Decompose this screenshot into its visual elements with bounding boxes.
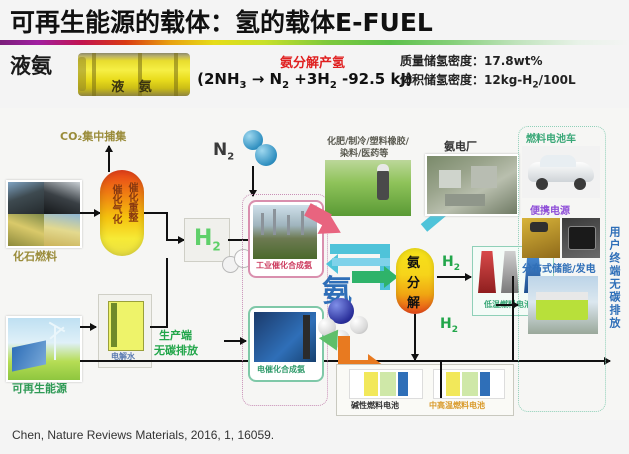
eq-prefix: (2NH [197, 70, 239, 88]
reformer-reactor: 催化气化 催化重整 [100, 170, 144, 256]
user-terminal-vertical-label: 用户终端无碳排放 [606, 226, 622, 330]
fertilizer-uses-line2: 染料/医药等 [340, 146, 388, 159]
page-title: 可再生能源的载体：氢的载体E-FUEL [10, 3, 433, 39]
fuel-cell-vehicle-photo [522, 146, 600, 198]
portable-device-photo [562, 218, 600, 258]
ammonia-to-decomp-shaft [352, 271, 386, 283]
decomp-char-1: 分 [407, 272, 420, 291]
mid-high-temp-fuel-cell-label: 中高温燃料电池 [429, 400, 485, 411]
electro-synthesis-box: 电催化合成氨 [248, 306, 324, 382]
fossil-fuel-photo [6, 180, 82, 248]
eq-arrow: → N [246, 70, 282, 88]
ammonia-decomposition-caption: 氨分解产氢 [205, 52, 420, 71]
renewable-energy-label: 可再生能源 [12, 380, 67, 396]
reformer-label-0: 催化重整 [124, 182, 139, 222]
n2-down-arrow [252, 166, 254, 196]
volume-density-value-suffix: /100L [539, 73, 576, 87]
eq-sub2: 2 [282, 80, 289, 91]
renewable-energy-photo [6, 316, 82, 382]
electrolysis-up-line [166, 258, 168, 328]
mass-density-label: 质量储氢密度： [400, 54, 484, 68]
h2-bottom-arrow [414, 314, 416, 360]
electrolysis-unit: 电解水 [98, 294, 152, 368]
reformer-down-line [166, 212, 168, 240]
mass-storage-density: 质量储氢密度：17.8wt% [400, 52, 576, 71]
reformer-label-1: 催化气化 [108, 184, 123, 224]
h2-out-bottom-label: H2 [440, 316, 458, 335]
eq-mid: +3H [289, 70, 330, 88]
h2-out-top-label: H2 [442, 254, 460, 273]
clean-production-line2: 无碳排放 [154, 342, 198, 358]
right-connector-vertical [512, 276, 514, 360]
fossil-to-reformer-arrow [80, 212, 100, 214]
tank-text: 液 氨 [78, 76, 190, 95]
co2-arrow-up [108, 146, 110, 172]
h2-label: H2 [194, 226, 221, 253]
slide-root: 可再生能源的载体：氢的载体E-FUEL 液氨 液 氨 氨分解产氢 (2NH3 →… [0, 0, 629, 454]
to-electro-synthesis-arrow [224, 340, 246, 342]
clean-production-line1: 生产端 [159, 327, 192, 343]
reformer-to-h2-arrow [166, 239, 184, 241]
industrial-synthesis-label: 工业催化合成氨 [256, 260, 312, 271]
fuel-cells-box: 碱性燃料电池 中高温燃料电池 [336, 364, 514, 416]
liquid-ammonia-label: 液氨 [10, 50, 52, 80]
decomp-char-0: 氨 [407, 252, 420, 271]
decomp-char-2: 解 [407, 292, 420, 311]
storage-density-stats: 质量储氢密度：17.8wt% 体积储氢密度：12kg-H2/100L [400, 52, 576, 95]
co2-capture-label: CO₂集中捕集 [60, 128, 126, 144]
ammonia-tank-image: 液 氨 [78, 53, 190, 96]
electro-synthesis-label: 电催化合成氨 [257, 364, 305, 375]
volume-density-value-prefix: 12kg-H [484, 73, 532, 87]
farm-photo [325, 160, 411, 216]
hydrogen-box: H2 [184, 218, 230, 262]
citation: Chen, Nature Reviews Materials, 2016, 1,… [12, 428, 274, 442]
portable-generator-photo [522, 218, 560, 258]
decomposition-equation: (2NH3 → N2 +3H2 -92.5 kJ) [180, 70, 430, 91]
n2-label: N2 [213, 140, 234, 162]
eq-sub3: 2 [330, 80, 337, 91]
power-plant-photo [425, 154, 519, 216]
electro-cell-photo [254, 312, 316, 362]
process-diagram: CO₂集中捕集 化石燃料 催化气化 催化重整 H2 [0, 108, 629, 420]
mass-density-value: 17.8wt% [484, 54, 542, 68]
ammonia-flow-arrow-3 [332, 258, 390, 266]
renewable-to-electrolysis-arrow [80, 326, 96, 328]
bottom-connector [440, 360, 442, 398]
reformer-out-line [144, 212, 168, 214]
volume-storage-density: 体积储氢密度：12kg-H2/100L [400, 71, 576, 95]
fuel-cell-vehicle-label: 燃料电池车 [526, 130, 576, 145]
h2-top-arrow [437, 276, 471, 278]
volume-density-label: 体积储氢密度： [400, 73, 484, 87]
to-portable-arrow [496, 304, 518, 306]
title-divider-rule [0, 40, 629, 45]
ammonia-decomposition-reactor: 氨 分 解 [396, 248, 434, 314]
portable-power-label: 便携电源 [530, 202, 570, 217]
fossil-fuel-label: 化石燃料 [13, 248, 57, 264]
distributed-storage-photo [528, 276, 598, 334]
alkaline-fuel-cell-label: 碱性燃料电池 [351, 400, 399, 411]
ammonia-power-plant-label: 氨电厂 [444, 138, 477, 154]
distributed-storage-label: 分布式储能/发电 [522, 260, 596, 275]
